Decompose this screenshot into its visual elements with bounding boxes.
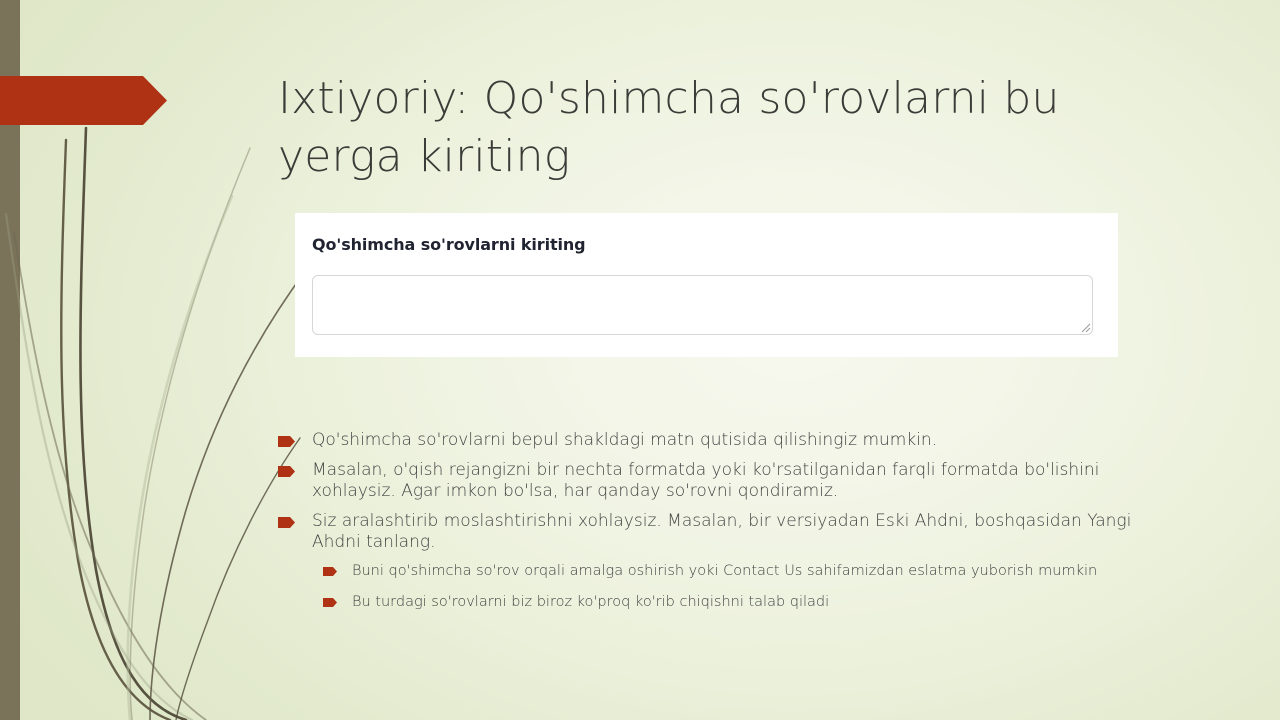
list-item: Bu turdagi so'rovlarni biz biroz ko'proq… bbox=[323, 593, 1178, 612]
banner-arrow-shape bbox=[0, 76, 167, 125]
form-screenshot-panel: Qo'shimcha so'rovlarni kiriting bbox=[295, 213, 1118, 357]
list-item-text: Masalan, o'qish rejangizni bir nechta fo… bbox=[312, 460, 1167, 502]
list-item: Masalan, o'qish rejangizni bir nechta fo… bbox=[278, 460, 1178, 502]
arrow-bullet-icon bbox=[278, 466, 295, 477]
arrow-bullet-icon bbox=[278, 436, 295, 447]
form-field-label: Qo'shimcha so'rovlarni kiriting bbox=[312, 235, 586, 254]
list-item-text: Qo'shimcha so'rovlarni bepul shakldagi m… bbox=[312, 430, 937, 451]
list-item-text: Bu turdagi so'rovlarni biz biroz ko'proq… bbox=[352, 593, 829, 612]
list-item: Buni qo'shimcha so'rov orqali amalga osh… bbox=[323, 562, 1178, 581]
bullet-list: Qo'shimcha so'rovlarni bepul shakldagi m… bbox=[278, 430, 1178, 624]
slide-title: Ixtiyoriy: Qo'shimcha so'rovlarni bu yer… bbox=[278, 70, 1118, 186]
arrow-bullet-icon bbox=[278, 517, 295, 528]
additional-requests-textarea[interactable] bbox=[312, 275, 1093, 335]
list-item: Siz aralashtirib moslashtirishni xohlays… bbox=[278, 511, 1178, 553]
presentation-slide: Ixtiyoriy: Qo'shimcha so'rovlarni bu yer… bbox=[0, 0, 1280, 720]
list-item-text: Buni qo'shimcha so'rov orqali amalga osh… bbox=[352, 562, 1097, 581]
list-item-text: Siz aralashtirib moslashtirishni xohlays… bbox=[312, 511, 1167, 553]
arrow-bullet-icon bbox=[323, 567, 337, 576]
arrow-bullet-icon bbox=[323, 598, 337, 607]
list-item: Qo'shimcha so'rovlarni bepul shakldagi m… bbox=[278, 430, 1178, 451]
